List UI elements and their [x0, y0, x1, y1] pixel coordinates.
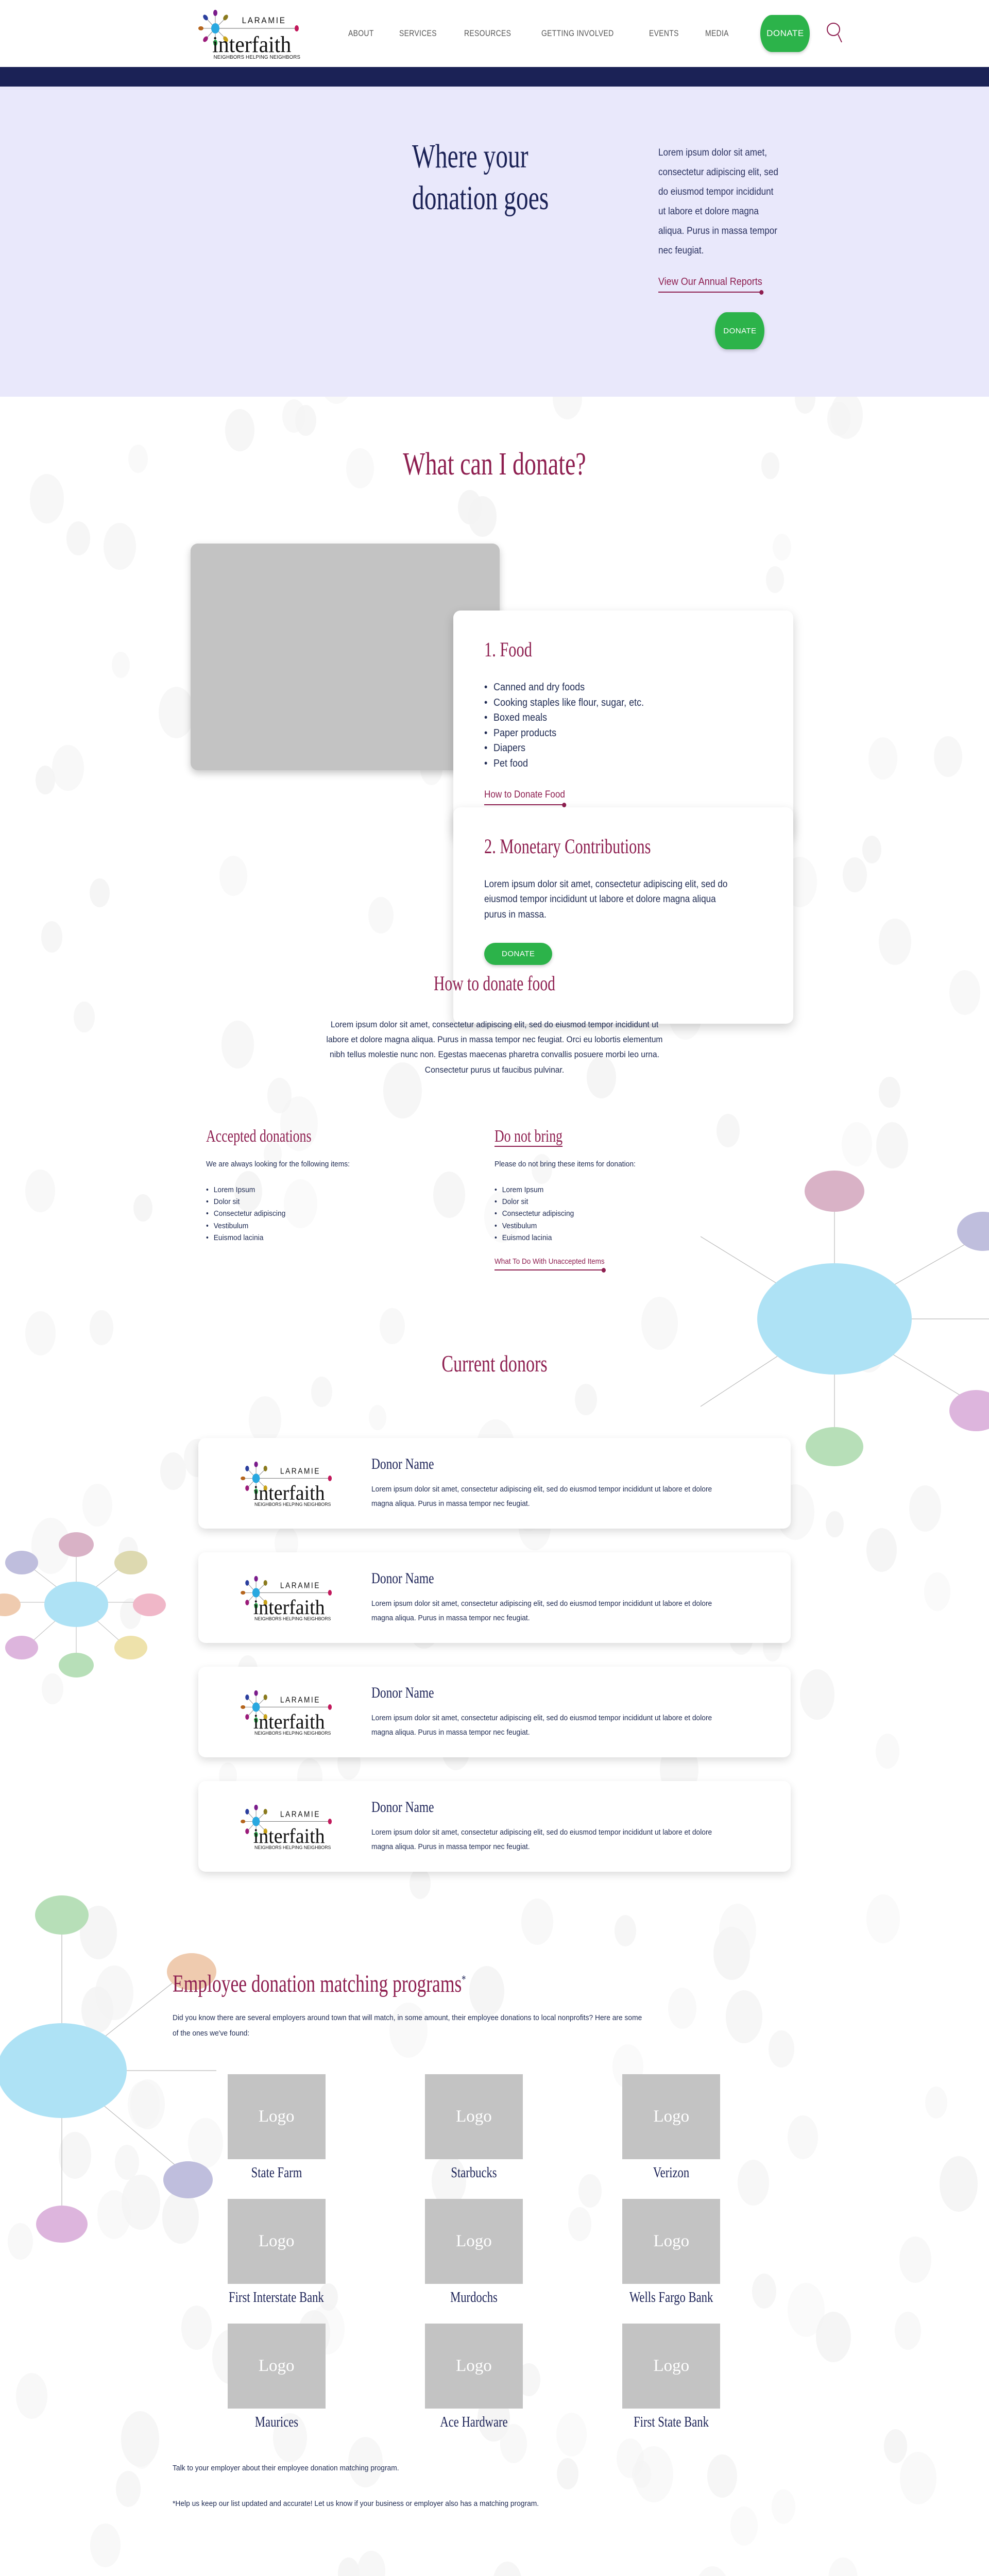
accepted-donations-title: Accepted donations: [206, 1127, 425, 1146]
donor-name: Donor Name: [371, 1455, 669, 1473]
accepted-donations-list: Lorem Ipsum Dolor sit Consectetur adipis…: [206, 1184, 494, 1244]
decorative-blob: [876, 1122, 908, 1168]
list-item: Euismod lacinia: [494, 1232, 760, 1244]
donor-name: Donor Name: [371, 1684, 669, 1702]
employer-logo-placeholder: Logo: [425, 2074, 523, 2159]
employee-matching-footnote: *Help us keep our list updated and accur…: [173, 2496, 651, 2511]
svg-text:NEIGHBORS HELPING NEIGHBORS: NEIGHBORS HELPING NEIGHBORS: [254, 1845, 331, 1850]
decorative-blob: [842, 1122, 872, 1166]
donor-card: LARAMIEinterfaithNEIGHBORS HELPING NEIGH…: [198, 1667, 791, 1757]
employer-logo-placeholder: Logo: [425, 2199, 523, 2284]
svg-text:NEIGHBORS HELPING NEIGHBORS: NEIGHBORS HELPING NEIGHBORS: [254, 1616, 331, 1621]
donor-description: Lorem ipsum dolor sit amet, consectetur …: [371, 1482, 722, 1512]
employer-logo-placeholder: Logo: [622, 2074, 720, 2159]
svg-text:LARAMIE: LARAMIE: [280, 1810, 320, 1819]
interfaith-logo-icon: LARAMIEinterfaithNEIGHBORS HELPING NEIGH…: [236, 1687, 337, 1737]
how-to-donate-food-paragraph: Lorem ipsum dolor sit amet, consectetur …: [321, 1017, 668, 1077]
list-item: Euismod lacinia: [206, 1232, 471, 1244]
current-donors-section: Current donors LARAMIEinterfaithNEIGHBOR…: [0, 1273, 989, 1872]
employer-name: Verizon: [633, 2164, 709, 2181]
employer-name: First State Bank: [633, 2414, 709, 2431]
employer-item: LogoMurdochs: [425, 2199, 523, 2306]
employer-item: LogoFirst Interstate Bank: [215, 2199, 337, 2306]
nav-item-about[interactable]: ABOUT: [348, 28, 374, 39]
hero-donate-button[interactable]: DONATE: [715, 312, 764, 349]
donor-description: Lorem ipsum dolor sit amet, consectetur …: [371, 1825, 722, 1855]
list-item: Boxed meals: [484, 710, 735, 726]
card-food: 1. Food Canned and dry foods Cooking sta…: [453, 611, 793, 837]
employee-matching-subtitle: Did you know there are several employers…: [173, 2010, 646, 2041]
site-header: LARAMIE interfaith NEIGHBORS HELPING NEI…: [0, 0, 989, 67]
employer-name: Wells Fargo Bank: [629, 2289, 713, 2306]
interfaith-logo-icon: LARAMIEinterfaithNEIGHBORS HELPING NEIGH…: [236, 1573, 337, 1622]
how-to-donate-food-section: How to donate food Lorem ipsum dolor sit…: [0, 894, 989, 1077]
employer-name: Ace Hardware: [436, 2414, 512, 2431]
accepted-donations-column: Accepted donations We are always looking…: [206, 1127, 494, 1273]
main-navigation[interactable]: ABOUT SERVICES RESOURCES GETTING INVOLVE…: [348, 28, 734, 39]
donor-description: Lorem ipsum dolor sit amet, consectetur …: [371, 1711, 722, 1740]
employer-name: Maurices: [238, 2414, 315, 2431]
svg-text:LARAMIE: LARAMIE: [280, 1467, 320, 1476]
employer-logo-placeholder: Logo: [622, 2324, 720, 2409]
employer-item: LogoMaurices: [228, 2324, 326, 2431]
employer-item: LogoFirst State Bank: [622, 2324, 720, 2431]
decorative-blob: [25, 1170, 55, 1212]
hero-navy-band: [0, 67, 989, 87]
how-to-donate-food-title: How to donate food: [129, 971, 861, 995]
employer-item: LogoVerizon: [622, 2074, 720, 2181]
donation-guidelines-section: Accepted donations We are always looking…: [206, 1127, 783, 1273]
how-to-donate-food-link[interactable]: How to Donate Food: [484, 789, 565, 807]
employer-name: State Farm: [238, 2164, 315, 2181]
employer-name: Starbucks: [436, 2164, 512, 2181]
interfaith-logo-icon: LARAMIE interfaith NEIGHBORS HELPING NEI…: [194, 7, 304, 61]
hero-title-line-2: donation goes: [412, 179, 549, 217]
list-item: Pet food: [484, 756, 735, 772]
donor-name: Donor Name: [371, 1570, 669, 1587]
what-can-i-donate-section: What can I donate? 1. Food Canned and dr…: [0, 397, 989, 894]
unaccepted-items-link[interactable]: What To Do With Unaccepted Items: [494, 1257, 605, 1273]
donor-text: Donor NameLorem ipsum dolor sit amet, co…: [351, 1799, 753, 1855]
card-food-list: Canned and dry foods Cooking staples lik…: [484, 680, 762, 772]
svg-text:LARAMIE: LARAMIE: [280, 1582, 320, 1590]
employer-logo-grid: LogoState FarmLogoStarbucksLogoVerizonLo…: [178, 2074, 770, 2431]
decorative-blob: [410, 1868, 431, 1899]
employer-item: LogoWells Fargo Bank: [618, 2199, 725, 2306]
donor-description: Lorem ipsum dolor sit amet, consectetur …: [371, 1597, 722, 1626]
donor-text: Donor NameLorem ipsum dolor sit amet, co…: [351, 1570, 753, 1626]
employee-matching-title: Employee donation matching programs*: [173, 1970, 649, 1998]
faq-section: FAQ's Lorem ipsum dolor sit amet?Lorem i…: [0, 2512, 989, 2576]
logo-tagline-text: NEIGHBORS HELPING NEIGHBORS: [213, 54, 300, 60]
svg-text:LARAMIE: LARAMIE: [280, 1696, 320, 1705]
page-root: LARAMIE interfaith NEIGHBORS HELPING NEI…: [0, 0, 989, 2576]
header-donate-button[interactable]: DONATE: [760, 15, 810, 52]
list-item: Lorem Ipsum: [494, 1184, 760, 1196]
hero-paragraph: Lorem ipsum dolor sit amet, consectetur …: [658, 143, 779, 261]
accepted-donations-lead: We are always looking for the following …: [206, 1160, 471, 1168]
list-item: Cooking staples like flour, sugar, etc.: [484, 696, 735, 711]
list-item: Vestibulum: [494, 1220, 760, 1232]
nav-item-services[interactable]: SERVICES: [399, 28, 437, 39]
what-can-i-donate-title: What can I donate?: [129, 446, 861, 483]
employee-matching-note: Talk to your employer about their employ…: [173, 2461, 765, 2476]
donor-logo: LARAMIEinterfaithNEIGHBORS HELPING NEIGH…: [222, 1687, 351, 1737]
card-monetary-heading: 2. Monetary Contributions: [484, 834, 695, 858]
list-item: Diapers: [484, 741, 735, 756]
employer-name: Murdochs: [436, 2289, 512, 2306]
employer-item: LogoStarbucks: [425, 2074, 523, 2181]
donor-card: LARAMIEinterfaithNEIGHBORS HELPING NEIGH…: [198, 1781, 791, 1872]
list-item: Dolor sit: [494, 1196, 760, 1208]
interfaith-logo-icon: LARAMIEinterfaithNEIGHBORS HELPING NEIGH…: [236, 1802, 337, 1851]
nav-item-media[interactable]: MEDIA: [705, 28, 729, 39]
employee-matching-title-text: Employee donation matching programs: [173, 1970, 462, 1997]
decorative-blob: [267, 1078, 292, 1113]
employer-logo-placeholder: Logo: [425, 2324, 523, 2409]
logo-laramie-text: LARAMIE: [242, 15, 286, 25]
list-item: Consectetur adipiscing: [494, 1208, 760, 1219]
employer-item: LogoState Farm: [228, 2074, 326, 2181]
svg-text:NEIGHBORS HELPING NEIGHBORS: NEIGHBORS HELPING NEIGHBORS: [254, 1731, 331, 1736]
employee-matching-asterisk: *: [462, 1973, 466, 1986]
employer-logo-placeholder: Logo: [228, 2199, 326, 2284]
donor-logo: LARAMIEinterfaithNEIGHBORS HELPING NEIGH…: [222, 1802, 351, 1851]
list-item: Paper products: [484, 726, 735, 741]
nav-item-getting-involved[interactable]: GETTING INVOLVED: [541, 28, 614, 39]
do-not-bring-title: Do not bring: [494, 1127, 714, 1146]
donor-list: LARAMIEinterfaithNEIGHBORS HELPING NEIGH…: [198, 1438, 791, 1872]
card-food-heading: 1. Food: [484, 637, 695, 662]
list-item: Dolor sit: [206, 1196, 471, 1208]
donor-card: LARAMIEinterfaithNEIGHBORS HELPING NEIGH…: [198, 1438, 791, 1529]
employer-item: LogoAce Hardware: [425, 2324, 523, 2431]
donor-text: Donor NameLorem ipsum dolor sit amet, co…: [351, 1455, 753, 1512]
svg-text:NEIGHBORS HELPING NEIGHBORS: NEIGHBORS HELPING NEIGHBORS: [254, 1502, 331, 1507]
logo-interfaith-text: interfaith: [212, 32, 291, 57]
donor-text: Donor NameLorem ipsum dolor sit amet, co…: [351, 1684, 753, 1740]
list-item: Canned and dry foods: [484, 680, 735, 696]
view-annual-reports-link[interactable]: View Our Annual Reports: [658, 276, 762, 295]
hero-title-line-1: Where your: [412, 138, 528, 175]
employee-matching-section: Employee donation matching programs* Did…: [0, 1895, 989, 2512]
donor-name: Donor Name: [371, 1799, 669, 1816]
search-icon[interactable]: [825, 21, 844, 47]
do-not-bring-column: Do not bring Please do not bring these i…: [494, 1127, 783, 1273]
employer-logo-placeholder: Logo: [228, 2074, 326, 2159]
list-item: Vestibulum: [206, 1220, 471, 1232]
employer-logo-placeholder: Logo: [228, 2324, 326, 2409]
donor-card: LARAMIEinterfaithNEIGHBORS HELPING NEIGH…: [198, 1552, 791, 1643]
employer-logo-placeholder: Logo: [622, 2199, 720, 2284]
decorative-blob: [879, 1077, 900, 1108]
list-item: Consectetur adipiscing: [206, 1208, 471, 1219]
decorative-blob: [133, 1194, 152, 1222]
nav-item-events[interactable]: EVENTS: [649, 28, 679, 39]
do-not-bring-list: Lorem Ipsum Dolor sit Consectetur adipis…: [494, 1184, 783, 1244]
hero-section: Where your donation goes Lorem ipsum dol…: [0, 87, 989, 397]
do-not-bring-lead: Please do not bring these items for dona…: [494, 1160, 760, 1168]
donor-logo: LARAMIEinterfaithNEIGHBORS HELPING NEIGH…: [222, 1573, 351, 1622]
site-logo[interactable]: LARAMIE interfaith NEIGHBORS HELPING NEI…: [190, 7, 308, 61]
current-donors-title: Current donors: [129, 1350, 861, 1377]
donor-logo: LARAMIEinterfaithNEIGHBORS HELPING NEIGH…: [222, 1459, 351, 1508]
nav-item-resources[interactable]: RESOURCES: [464, 28, 511, 39]
employer-name: First Interstate Bank: [229, 2289, 324, 2306]
page-title: Where your donation goes: [412, 136, 549, 349]
interfaith-logo-icon: LARAMIEinterfaithNEIGHBORS HELPING NEIGH…: [236, 1459, 337, 1508]
list-item: Lorem Ipsum: [206, 1184, 471, 1196]
